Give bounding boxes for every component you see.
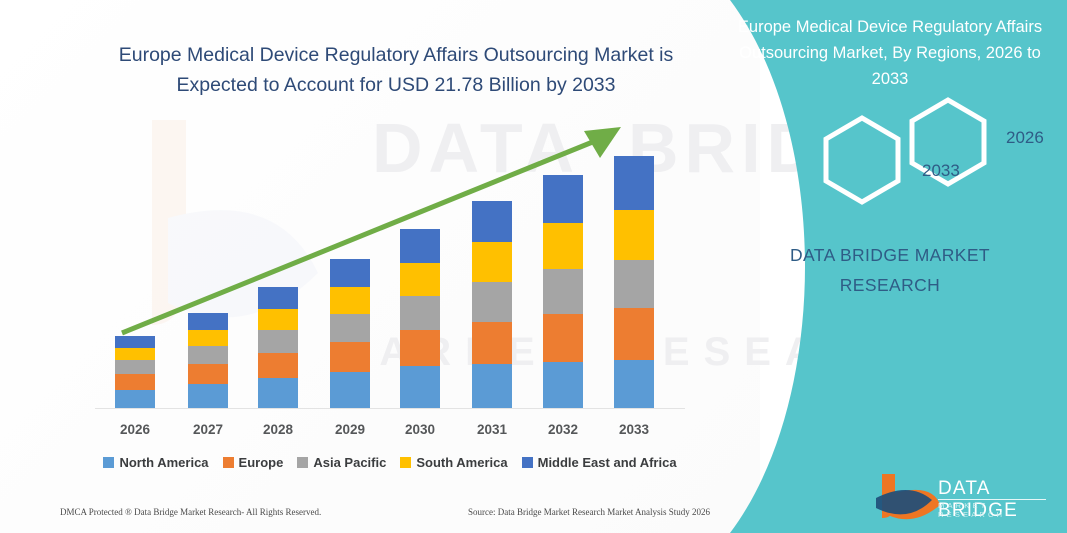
watermark-data: DATA: [372, 108, 580, 188]
bar-segment-asia-pacific: [614, 260, 654, 308]
bar-segment-middle-east-and-africa: [614, 156, 654, 210]
bar-segment-europe: [472, 322, 512, 364]
legend-label: South America: [416, 455, 507, 470]
x-axis-label-2030: 2030: [400, 422, 440, 437]
bar-stack-2032: [543, 175, 583, 408]
x-axis-label-2032: 2032: [543, 422, 583, 437]
legend-swatch-icon: [522, 457, 533, 468]
bar-segment-middle-east-and-africa: [472, 201, 512, 242]
x-axis-label-2033: 2033: [614, 422, 654, 437]
hexagon-badge-2026-label: 2026: [1006, 128, 1044, 148]
infographic-canvas: DATA BRIDGE MARKET RESEARCH Europe Medic…: [0, 0, 1067, 533]
bar-segment-europe: [543, 314, 583, 362]
right-panel-title: Europe Medical Device Regulatory Affairs…: [735, 14, 1045, 92]
bar-segment-north-america: [472, 364, 512, 408]
bar-stack-2030: [400, 229, 440, 408]
bar-segment-europe: [400, 330, 440, 366]
brand-line-2: RESEARCH: [840, 275, 940, 295]
bar-segment-south-america: [472, 242, 512, 282]
bar-segment-south-america: [400, 263, 440, 296]
bar-stack-2033: [614, 156, 654, 408]
brand-name: DATA BRIDGE MARKET RESEARCH: [765, 240, 1015, 300]
bar-segment-middle-east-and-africa: [543, 175, 583, 223]
bar-segment-south-america: [543, 223, 583, 269]
bar-segment-asia-pacific: [543, 269, 583, 314]
bar-stack-2031: [472, 201, 512, 408]
bar-segment-europe: [614, 308, 654, 360]
bar-segment-asia-pacific: [472, 282, 512, 322]
bar-segment-north-america: [543, 362, 583, 408]
bar-segment-north-america: [400, 366, 440, 408]
bar-segment-asia-pacific: [400, 296, 440, 330]
logo-tagline: MARKET RESEARCH: [938, 501, 1005, 519]
legend-swatch-icon: [400, 457, 411, 468]
legend-label: Middle East and Africa: [538, 455, 677, 470]
hexagon-badge-2033-label: 2033: [922, 161, 960, 181]
legend-item-south-america[interactable]: South America: [400, 455, 507, 470]
bar-segment-south-america: [614, 210, 654, 260]
right-panel-content: Europe Medical Device Regulatory Affairs…: [0, 0, 377, 533]
logo-divider: [938, 499, 1046, 500]
hexagon-badges: [810, 96, 1030, 211]
x-axis-label-2031: 2031: [472, 422, 512, 437]
bar-segment-middle-east-and-africa: [400, 229, 440, 263]
bar-segment-north-america: [614, 360, 654, 408]
hexagon-2033-shape: [826, 118, 898, 202]
legend-item-middle-east-and-africa[interactable]: Middle East and Africa: [522, 455, 677, 470]
brand-line-1: DATA BRIDGE MARKET: [790, 245, 990, 265]
footer-source: Source: Data Bridge Market Research Mark…: [468, 507, 710, 517]
